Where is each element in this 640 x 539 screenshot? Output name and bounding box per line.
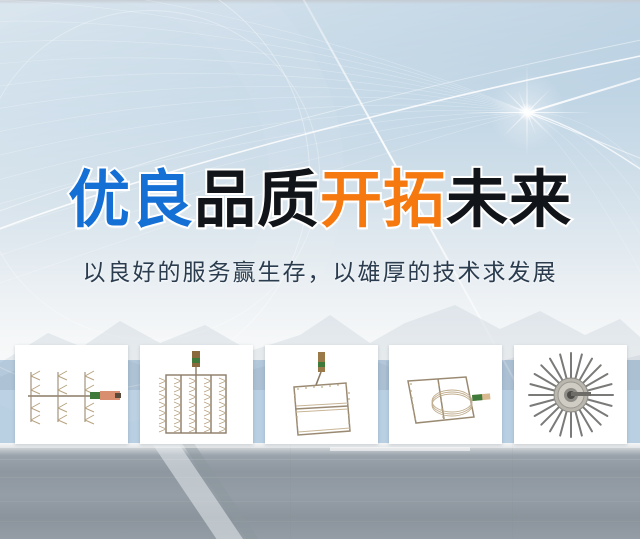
comb-rack-product-icon <box>18 352 126 438</box>
starburst-wheel-product-icon <box>525 351 617 439</box>
product-card[interactable] <box>140 345 253 444</box>
ground-surface <box>0 443 640 539</box>
headline-segment-2: 品质 <box>194 163 320 236</box>
headline-segment-1: 优良 <box>68 163 194 236</box>
promo-banner: 优良品质开拓未来 以良好的服务赢生存，以雄厚的技术求发展 <box>0 0 640 539</box>
product-card[interactable] <box>15 345 128 444</box>
frame-rack-product-icon <box>274 349 368 441</box>
product-card[interactable] <box>514 345 627 444</box>
headline-segment-4: 未来 <box>446 163 572 236</box>
ring-frame-product-icon <box>394 357 498 433</box>
product-card[interactable] <box>265 345 378 444</box>
headline: 优良品质开拓未来 <box>0 166 640 234</box>
product-card[interactable] <box>389 345 502 444</box>
product-card-list <box>15 345 627 444</box>
headline-segment-3: 开拓 <box>320 163 446 236</box>
subtitle: 以良好的服务赢生存，以雄厚的技术求发展 <box>0 258 640 288</box>
brush-rack-product-icon <box>149 349 243 441</box>
